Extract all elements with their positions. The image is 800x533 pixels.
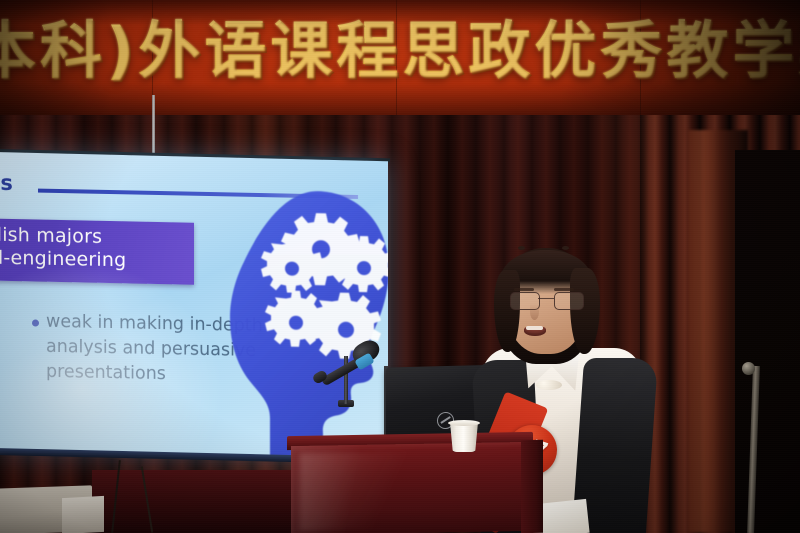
slide-title: ents (0, 170, 13, 195)
projection-screen: ents English majors -and-engineering wea… (0, 152, 388, 461)
foreground-table (92, 470, 292, 533)
presenter-eye-left (518, 246, 525, 250)
speaker-stand-knob (742, 362, 755, 375)
slide-highlight-line-1: English majors (0, 223, 102, 248)
presenter-glasses (510, 292, 584, 308)
foreground-laptop-lid (62, 496, 104, 533)
presenter-eye-right (562, 246, 569, 250)
event-banner: 本科)外语课程思政优秀教学案例征集与交 (0, 0, 800, 115)
paper-cup-rim (448, 420, 480, 426)
presenter-necklace (536, 380, 562, 390)
presenter-nose (530, 304, 539, 320)
presenter-hair-right (570, 268, 600, 354)
podium-reflection (300, 451, 420, 531)
podium-side-panel (521, 440, 543, 533)
presenter-teeth (526, 326, 543, 330)
conference-photo: 本科)外语课程思政优秀教学案例征集与交 ents English majors … (0, 0, 800, 533)
slide-bullet-marker (32, 319, 39, 326)
brain-gears-graphic (222, 185, 388, 461)
event-banner-text: 本科)外语课程思政优秀教学案例征集与交 (0, 14, 800, 88)
presenter-eyebrow-right (554, 288, 574, 291)
paper-cup (450, 422, 478, 452)
dark-background-right (735, 150, 800, 533)
slide-highlight-line-2: -and-engineering (0, 246, 126, 271)
presenter-eyebrow-left (514, 288, 534, 291)
